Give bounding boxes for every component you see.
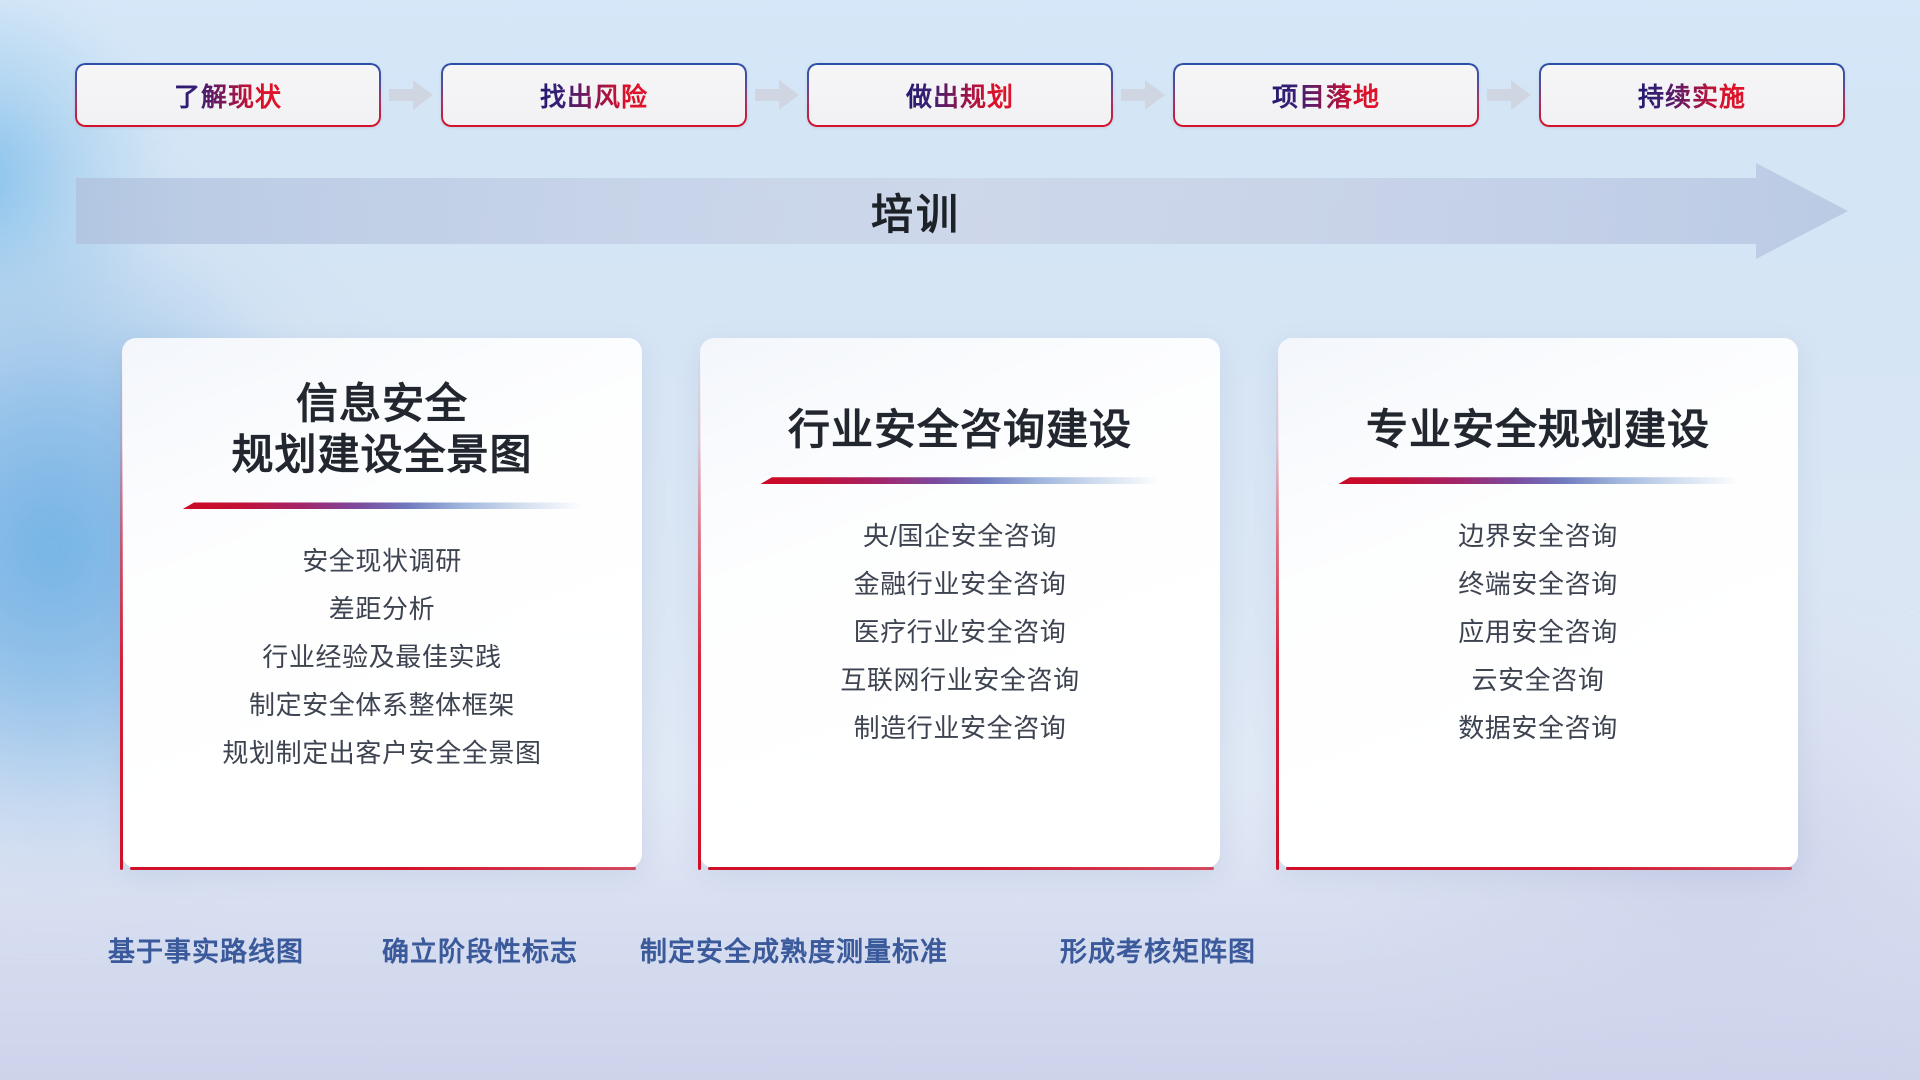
stage-label-5: 持续实施 [1638,77,1746,114]
list-item: 互联网行业安全咨询 [728,656,1192,704]
card-2-title: 行业安全咨询建设 [788,378,1132,455]
stage-label-4: 项目落地 [1272,77,1380,114]
list-item: 差距分析 [150,585,614,633]
footnote-4: 形成考核矩阵图 [1060,930,1256,969]
card-2[interactable]: 行业安全咨询建设 央/国企安全咨询 金融行业安全咨询 医疗行业安全咨询 互联网行… [700,338,1220,868]
list-item: 金融行业安全咨询 [728,560,1192,608]
stage-label-1: 了解现状 [174,77,282,114]
card-3-list: 边界安全咨询 终端安全咨询 应用安全咨询 云安全咨询 数据安全咨询 [1306,512,1770,752]
stage-box-2[interactable]: 找出风险 [441,63,747,127]
stage-arrow-icon-2 [747,63,807,127]
list-item: 央/国企安全咨询 [728,512,1192,560]
list-item: 数据安全咨询 [1306,704,1770,752]
stage-pipeline: 了解现状 找出风险 做出规划 项目落地 持续实施 [0,62,1920,128]
stage-arrow-icon-1 [381,63,441,127]
stage-label-2: 找出风险 [540,77,648,114]
list-item: 制定安全体系整体框架 [150,681,614,729]
stage-box-1[interactable]: 了解现状 [75,63,381,127]
list-item: 边界安全咨询 [1306,512,1770,560]
stage-label-3: 做出规划 [906,77,1014,114]
list-item: 安全现状调研 [150,537,614,585]
card-1[interactable]: 信息安全 规划建设全景图 安全现状调研 差距分析 行业经验及最佳实践 制定安全体… [122,338,642,868]
card-2-list: 央/国企安全咨询 金融行业安全咨询 医疗行业安全咨询 互联网行业安全咨询 制造行… [728,512,1192,752]
footnote-1: 基于事实路线图 [108,930,304,969]
training-banner: 培训 [76,163,1848,259]
card-3[interactable]: 专业安全规划建设 边界安全咨询 终端安全咨询 应用安全咨询 云安全咨询 数据安全… [1278,338,1798,868]
list-item: 规划制定出客户安全全景图 [150,729,614,777]
list-item: 行业经验及最佳实践 [150,633,614,681]
card-1-title: 信息安全 规划建设全景图 [231,378,532,480]
card-3-title: 专业安全规划建设 [1366,378,1710,455]
list-item: 应用安全咨询 [1306,608,1770,656]
list-item: 医疗行业安全咨询 [728,608,1192,656]
list-item: 制造行业安全咨询 [728,704,1192,752]
footnote-2: 确立阶段性标志 [382,930,578,969]
stage-box-4[interactable]: 项目落地 [1173,63,1479,127]
list-item: 终端安全咨询 [1306,560,1770,608]
stage-arrow-icon-4 [1479,63,1539,127]
stage-arrow-icon-3 [1113,63,1173,127]
card-1-divider [182,502,582,509]
card-2-divider [760,477,1160,484]
card-1-list: 安全现状调研 差距分析 行业经验及最佳实践 制定安全体系整体框架 规划制定出客户… [150,537,614,777]
card-group: 信息安全 规划建设全景图 安全现状调研 差距分析 行业经验及最佳实践 制定安全体… [0,338,1920,868]
footnote-group: 基于事实路线图 确立阶段性标志 制定安全成熟度测量标准 形成考核矩阵图 [0,930,1920,976]
stage-box-3[interactable]: 做出规划 [807,63,1113,127]
card-3-divider [1338,477,1738,484]
footnote-3: 制定安全成熟度测量标准 [640,930,948,969]
stage-box-5[interactable]: 持续实施 [1539,63,1845,127]
list-item: 云安全咨询 [1306,656,1770,704]
training-banner-label: 培训 [76,163,1756,259]
